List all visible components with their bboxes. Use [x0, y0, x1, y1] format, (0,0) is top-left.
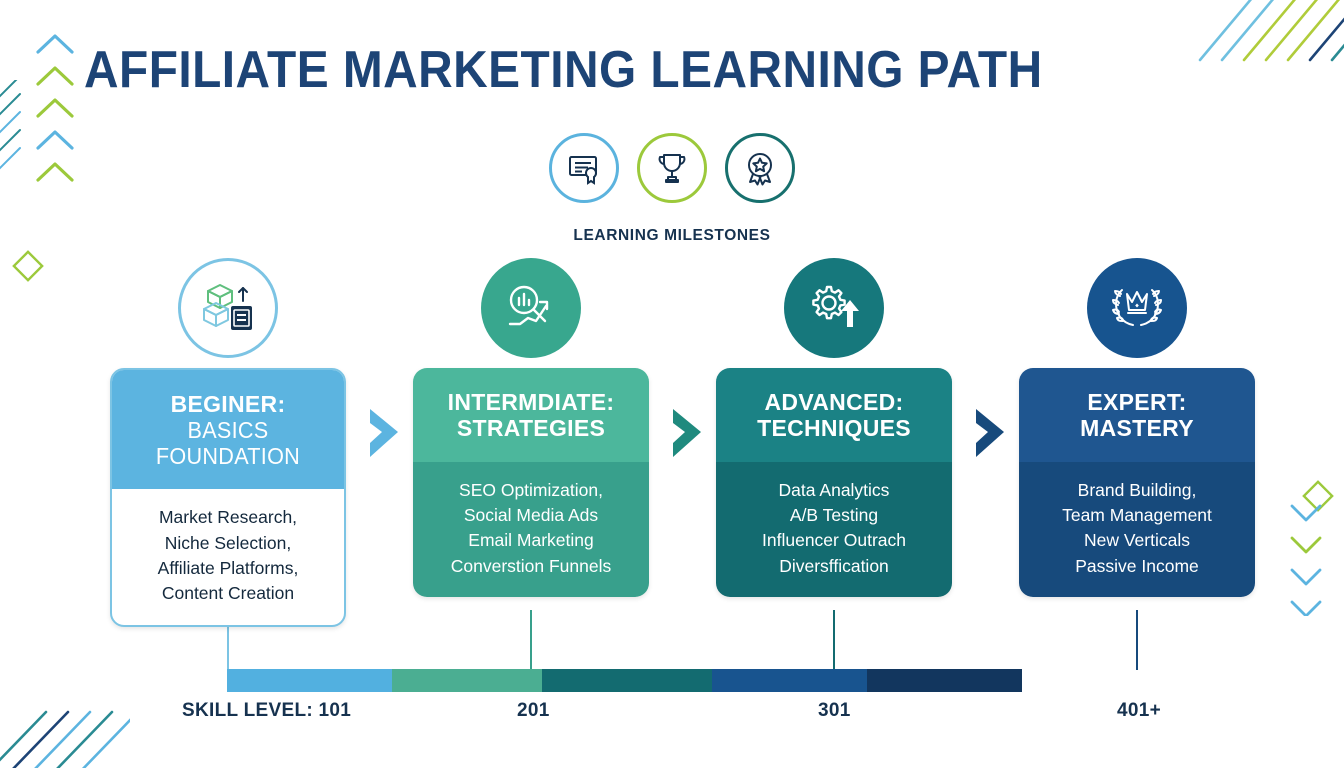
stage-intermediate-icon-circle	[481, 258, 581, 358]
stage-advanced-item: Data Analytics	[724, 478, 944, 503]
milestone-certificate[interactable]	[549, 133, 619, 203]
gear-arrow-icon	[805, 281, 863, 335]
skill-segment-301	[542, 669, 712, 692]
page-title: AFFILIATE MARKETING LEARNING PATH	[84, 40, 1043, 100]
stage-advanced-icon-circle	[784, 258, 884, 358]
stage-intermediate[interactable]: INTERMDIATE: STRATEGIES SEO Optimization…	[413, 258, 649, 597]
stage-beginner-item: Niche Selection,	[120, 531, 336, 556]
stage-intermediate-title-line2: STRATEGIES	[423, 416, 639, 442]
skill-segment-401	[712, 669, 867, 692]
stage-advanced-card[interactable]: ADVANCED: TECHNIQUES Data Analytics A/B …	[716, 368, 952, 597]
trophy-icon	[652, 148, 692, 188]
skill-level-labels: SKILL LEVEL: 101 201 301 401+	[0, 700, 1344, 730]
milestone-icon-row	[549, 133, 795, 203]
stage-beginner-card[interactable]: BEGINER: BASICS FOUNDATION Market Resear…	[110, 368, 346, 627]
stage-intermediate-item: Social Media Ads	[421, 503, 641, 528]
stage-intermediate-header: INTERMDIATE: STRATEGIES	[413, 368, 649, 462]
stage-expert-body: Brand Building, Team Management New Vert…	[1019, 462, 1255, 598]
stage-beginner-item: Market Research,	[120, 505, 336, 530]
stage-beginner-icon-circle	[178, 258, 278, 358]
learning-milestones-section: LEARNING MILESTONES	[0, 133, 1344, 245]
stage-intermediate-body: SEO Optimization, Social Media Ads Email…	[413, 462, 649, 598]
skill-segment-101	[227, 669, 392, 692]
stage-expert-icon-circle	[1087, 258, 1187, 358]
building-blocks-icon	[198, 279, 258, 337]
stage-expert-item: Passive Income	[1027, 554, 1247, 579]
stage-expert-card[interactable]: EXPERT: MASTERY Brand Building, Team Man…	[1019, 368, 1255, 597]
decor-stripes-top-right	[1180, 0, 1344, 64]
skill-label-201: 201	[517, 700, 550, 722]
stage-expert-title-line2: MASTERY	[1029, 416, 1245, 442]
skill-label-401: 401+	[1117, 700, 1161, 722]
stage-advanced[interactable]: ADVANCED: TECHNIQUES Data Analytics A/B …	[716, 258, 952, 597]
skill-segment-401plus	[867, 669, 1022, 692]
stage-beginner-title-line2: BASICS FOUNDATION	[128, 418, 327, 470]
skill-segment-201	[392, 669, 542, 692]
stage-intermediate-item: SEO Optimization,	[421, 478, 641, 503]
stage-beginner-title-line1: BEGINER:	[122, 392, 334, 418]
stage-expert[interactable]: EXPERT: MASTERY Brand Building, Team Man…	[1019, 258, 1255, 597]
stage-beginner-header: BEGINER: BASICS FOUNDATION	[112, 370, 344, 489]
stage-intermediate-title-line1: INTERMDIATE:	[423, 390, 639, 416]
milestones-label: LEARNING MILESTONES	[573, 227, 770, 245]
stage-advanced-title-line2: TECHNIQUES	[726, 416, 942, 442]
stage-intermediate-card[interactable]: INTERMDIATE: STRATEGIES SEO Optimization…	[413, 368, 649, 597]
stage-expert-item: Team Management	[1027, 503, 1247, 528]
stage-advanced-header: ADVANCED: TECHNIQUES	[716, 368, 952, 462]
skill-level-bar	[227, 669, 1147, 692]
skill-label-101: SKILL LEVEL: 101	[182, 700, 351, 722]
chart-magnifier-icon	[502, 280, 560, 336]
stage-advanced-body: Data Analytics A/B Testing Influencer Ou…	[716, 462, 952, 598]
stage-expert-item: Brand Building,	[1027, 478, 1247, 503]
stage-advanced-item: Diversffication	[724, 554, 944, 579]
crown-laurel-icon	[1107, 280, 1167, 336]
stage-expert-title-line1: EXPERT:	[1029, 390, 1245, 416]
stage-beginner[interactable]: BEGINER: BASICS FOUNDATION Market Resear…	[110, 258, 346, 627]
stage-beginner-body: Market Research, Niche Selection, Affili…	[112, 489, 344, 625]
stage-intermediate-item: Email Marketing	[421, 528, 641, 553]
stage-advanced-title-line1: ADVANCED:	[726, 390, 942, 416]
award-badge-icon	[740, 148, 780, 188]
arrow-advanced-to-expert	[972, 405, 1012, 461]
stage-expert-header: EXPERT: MASTERY	[1019, 368, 1255, 462]
skill-label-301: 301	[818, 700, 851, 722]
milestone-trophy[interactable]	[637, 133, 707, 203]
stage-expert-item: New Verticals	[1027, 528, 1247, 553]
stage-intermediate-item: Converstion Funnels	[421, 554, 641, 579]
stage-beginner-item: Affiliate Platforms,	[120, 556, 336, 581]
milestone-award-badge[interactable]	[725, 133, 795, 203]
stage-advanced-item: A/B Testing	[724, 503, 944, 528]
arrow-beginner-to-intermediate	[366, 405, 406, 461]
stage-advanced-item: Influencer Outrach	[724, 528, 944, 553]
certificate-icon	[564, 148, 604, 188]
stage-beginner-item: Content Creation	[120, 581, 336, 606]
arrow-intermediate-to-advanced	[669, 405, 709, 461]
